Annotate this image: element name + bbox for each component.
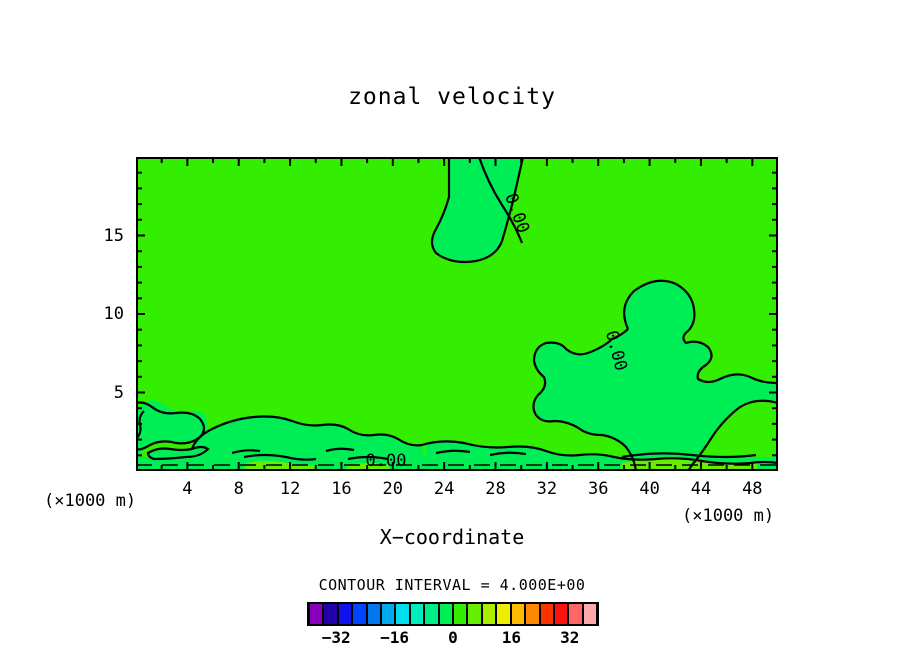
colorbar-swatch-17 [554, 604, 568, 624]
colorbar-swatch-11 [467, 604, 481, 624]
x-tick-label: 20 [373, 479, 413, 499]
y-tick-label: 15 [84, 226, 124, 246]
colorbar-swatch-1 [323, 604, 337, 624]
colorbar-tick-label: −32 [311, 628, 361, 647]
x-tick-label: 28 [476, 479, 516, 499]
colorbar-swatch-5 [381, 604, 395, 624]
colorbar-tick-label: −16 [370, 628, 420, 647]
x-tick-label: 40 [630, 479, 670, 499]
colorbar-swatch-7 [410, 604, 424, 624]
x-tick-label: 24 [424, 479, 464, 499]
colorbar-tick-label: 16 [486, 628, 536, 647]
x-tick-label: 4 [167, 479, 207, 499]
colorbar-swatch-6 [395, 604, 409, 624]
colorbar-swatch-15 [525, 604, 539, 624]
x-tick-label: 36 [578, 479, 618, 499]
colorbar-swatch-13 [496, 604, 510, 624]
plot-area: 0.00 0.00 0.00 [136, 157, 778, 471]
figure-canvas: zonal velocity Z−coordinate X−coordinate… [0, 0, 904, 654]
colorbar-tick-label: 0 [428, 628, 478, 647]
colorbar-swatch-10 [453, 604, 467, 624]
x-tick-label: 8 [219, 479, 259, 499]
y-tick-label: 5 [84, 383, 124, 403]
x-tick-label: 32 [527, 479, 567, 499]
colorbar-swatch-2 [338, 604, 352, 624]
x-tick-label: 44 [681, 479, 721, 499]
colorbar-swatch-16 [540, 604, 554, 624]
colorbar-tick-label: 32 [545, 628, 595, 647]
colorbar-swatches [307, 602, 599, 626]
colorbar-swatch-9 [439, 604, 453, 624]
colorbar-swatch-12 [482, 604, 496, 624]
plot-frame [136, 157, 778, 471]
y-tick-label: 10 [84, 304, 124, 324]
colorbar: −32−1601632 [307, 602, 599, 626]
x-axis-unit-right: (×1000 m) [682, 506, 774, 526]
x-tick-label: 12 [270, 479, 310, 499]
colorbar-swatch-0 [309, 604, 323, 624]
colorbar-swatch-19 [583, 604, 597, 624]
chart-title: zonal velocity [0, 84, 904, 110]
x-tick-label: 48 [732, 479, 772, 499]
x-axis-unit-left: (×1000 m) [44, 491, 136, 511]
colorbar-swatch-18 [568, 604, 582, 624]
x-tick-label: 16 [321, 479, 361, 499]
x-axis-label: X−coordinate [0, 525, 904, 549]
colorbar-swatch-3 [352, 604, 366, 624]
colorbar-swatch-8 [424, 604, 438, 624]
colorbar-swatch-4 [367, 604, 381, 624]
colorbar-swatch-14 [511, 604, 525, 624]
colorbar-caption: CONTOUR INTERVAL = 4.000E+00 [0, 576, 904, 594]
